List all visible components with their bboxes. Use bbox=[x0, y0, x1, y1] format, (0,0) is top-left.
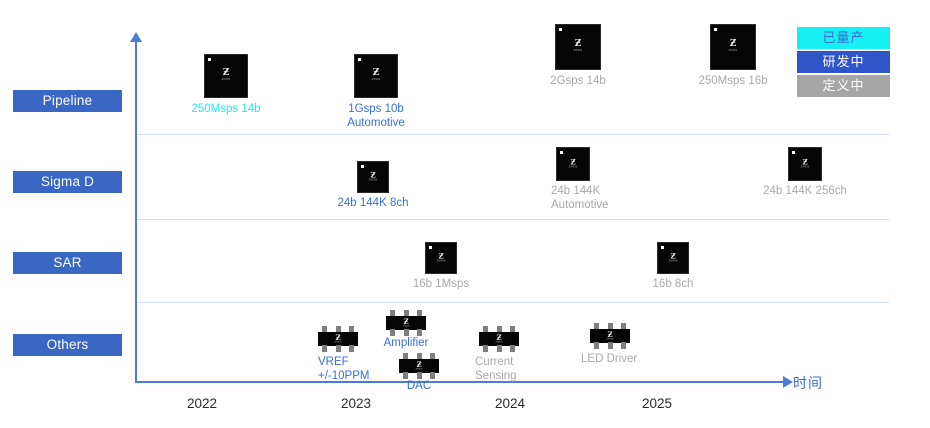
product-caption: 250Msps 16b bbox=[698, 75, 767, 89]
row-label-sigma-d[interactable]: Sigma D bbox=[13, 171, 122, 193]
product-caption: LED Driver bbox=[581, 353, 637, 367]
product-node-amplifier[interactable]: Ƶ ZHIXIN Amplifier bbox=[386, 309, 426, 337]
product-caption: DAC bbox=[407, 380, 431, 394]
product-caption: VREF +/-10PPM bbox=[318, 356, 369, 383]
vendor-logo-icon: Ƶ ZHIXIN bbox=[399, 361, 439, 371]
package-pin-icon bbox=[608, 342, 613, 349]
package-pin1-dot-icon bbox=[661, 246, 664, 249]
product-caption: 2Gsps 14b bbox=[550, 75, 606, 89]
product-caption: 1Gsps 10b Automotive bbox=[347, 103, 405, 130]
package-pin-icon bbox=[510, 345, 515, 352]
product-node-24b-144k-8ch[interactable]: Ƶ ZHIXIN 24b 144K 8ch bbox=[358, 162, 388, 192]
package-pin1-dot-icon bbox=[429, 246, 432, 249]
year-tick-2023: 2023 bbox=[326, 396, 386, 411]
package-pin-icon bbox=[594, 342, 599, 349]
product-node-1gsps-10b-automotive[interactable]: Ƶ ZHIXIN 1Gsps 10b Automotive bbox=[355, 55, 397, 97]
product-caption: 16b 8ch bbox=[653, 278, 694, 292]
package-pin1-dot-icon bbox=[714, 28, 717, 31]
x-axis-line bbox=[135, 381, 785, 383]
product-node-24b-144k-automotive[interactable]: Ƶ ZHIXIN 24b 144K Automotive bbox=[551, 148, 589, 180]
vendor-logo-icon: Ƶ ZHIXIN bbox=[711, 40, 755, 53]
vendor-logo-icon: Ƶ ZHIXIN bbox=[557, 158, 589, 169]
product-caption: 24b 144K Automotive bbox=[551, 185, 609, 212]
vendor-logo-icon: Ƶ ZHIXIN bbox=[479, 334, 519, 344]
product-node-250msps-16b[interactable]: Ƶ ZHIXIN 250Msps 16b bbox=[711, 25, 755, 69]
status-legend: 已量产 研发中 定义中 bbox=[797, 27, 890, 99]
vendor-logo-icon: Ƶ ZHIXIN bbox=[590, 331, 630, 341]
vendor-logo-icon: Ƶ ZHIXIN bbox=[205, 69, 247, 82]
chip-package-sot23: Ƶ ZHIXIN bbox=[399, 352, 439, 380]
chip-package-bga: Ƶ ZHIXIN bbox=[205, 55, 247, 97]
package-pin-icon bbox=[621, 342, 626, 349]
chip-package-bga: Ƶ ZHIXIN bbox=[557, 148, 589, 180]
product-caption: Current Sensing bbox=[475, 356, 517, 383]
product-caption: 16b 1Msps bbox=[413, 278, 469, 292]
package-pin1-dot-icon bbox=[560, 151, 563, 154]
package-pin-icon bbox=[403, 372, 408, 379]
package-pin-icon bbox=[417, 372, 422, 379]
chip-package-bga: Ƶ ZHIXIN bbox=[358, 162, 388, 192]
x-axis-arrow-icon bbox=[783, 376, 793, 388]
chip-package-bga: Ƶ ZHIXIN bbox=[789, 148, 821, 180]
package-pin1-dot-icon bbox=[792, 151, 795, 154]
vendor-logo-icon: Ƶ ZHIXIN bbox=[318, 334, 358, 344]
chip-package-sot23: Ƶ ZHIXIN bbox=[479, 325, 519, 353]
product-node-16b-1msps[interactable]: Ƶ ZHIXIN 16b 1Msps bbox=[426, 243, 456, 273]
product-node-16b-8ch[interactable]: Ƶ ZHIXIN 16b 8ch bbox=[658, 243, 688, 273]
chip-package-bga: Ƶ ZHIXIN bbox=[355, 55, 397, 97]
year-tick-2025: 2025 bbox=[627, 396, 687, 411]
y-axis-line bbox=[135, 40, 137, 383]
year-tick-2024: 2024 bbox=[480, 396, 540, 411]
product-caption: 24b 144K 8ch bbox=[338, 197, 409, 211]
product-node-24b-144k-256ch[interactable]: Ƶ ZHIXIN 24b 144K 256ch bbox=[789, 148, 821, 180]
row-label-pipeline[interactable]: Pipeline bbox=[13, 90, 122, 112]
gridline-pipeline-sigmad bbox=[137, 134, 889, 135]
package-pin-icon bbox=[497, 345, 502, 352]
package-pin-icon bbox=[483, 345, 488, 352]
chip-package-sot23: Ƶ ZHIXIN bbox=[386, 309, 426, 337]
vendor-logo-icon: Ƶ ZHIXIN bbox=[556, 40, 600, 53]
legend-item-production[interactable]: 已量产 bbox=[797, 27, 890, 49]
row-label-sar[interactable]: SAR bbox=[13, 252, 122, 274]
vendor-logo-icon: Ƶ ZHIXIN bbox=[426, 252, 456, 263]
product-caption: 250Msps 14b bbox=[191, 103, 260, 117]
product-node-dac[interactable]: Ƶ ZHIXIN DAC bbox=[399, 352, 439, 380]
chip-package-bga: Ƶ ZHIXIN bbox=[658, 243, 688, 273]
product-node-2gsps-14b[interactable]: Ƶ ZHIXIN 2Gsps 14b bbox=[556, 25, 600, 69]
product-caption: 24b 144K 256ch bbox=[763, 185, 847, 199]
package-pin1-dot-icon bbox=[559, 28, 562, 31]
year-tick-2022: 2022 bbox=[172, 396, 232, 411]
package-pin1-dot-icon bbox=[358, 58, 361, 61]
gridline-sigmad-sar bbox=[137, 219, 889, 220]
legend-item-development[interactable]: 研发中 bbox=[797, 51, 890, 73]
chip-package-bga: Ƶ ZHIXIN bbox=[426, 243, 456, 273]
chip-package-sot23: Ƶ ZHIXIN bbox=[318, 325, 358, 353]
chip-package-bga: Ƶ ZHIXIN bbox=[711, 25, 755, 69]
gridline-sar-others bbox=[137, 302, 889, 303]
vendor-logo-icon: Ƶ ZHIXIN bbox=[789, 158, 821, 169]
product-node-250msps-14b[interactable]: Ƶ ZHIXIN 250Msps 14b bbox=[205, 55, 247, 97]
row-label-others[interactable]: Others bbox=[13, 334, 122, 356]
vendor-logo-icon: Ƶ ZHIXIN bbox=[358, 171, 388, 182]
chip-package-sot23: Ƶ ZHIXIN bbox=[590, 322, 630, 350]
package-pin-icon bbox=[417, 329, 422, 336]
package-pin1-dot-icon bbox=[208, 58, 211, 61]
product-node-current-sensing[interactable]: Ƶ ZHIXIN Current Sensing bbox=[475, 325, 519, 353]
package-pin-icon bbox=[349, 345, 354, 352]
package-pin1-dot-icon bbox=[361, 165, 364, 168]
roadmap-canvas: 时间 Pipeline Sigma D SAR Others 已量产 研发中 定… bbox=[0, 0, 930, 428]
product-node-led-driver[interactable]: Ƶ ZHIXIN LED Driver bbox=[581, 322, 630, 350]
package-pin-icon bbox=[322, 345, 327, 352]
chip-package-bga: Ƶ ZHIXIN bbox=[556, 25, 600, 69]
package-pin-icon bbox=[390, 329, 395, 336]
package-pin-icon bbox=[336, 345, 341, 352]
legend-item-definition[interactable]: 定义中 bbox=[797, 75, 890, 97]
product-node-vref[interactable]: Ƶ ZHIXIN VREF +/-10PPM bbox=[318, 325, 358, 353]
package-pin-icon bbox=[404, 329, 409, 336]
product-caption: Amplifier bbox=[384, 337, 429, 351]
package-pin-icon bbox=[430, 372, 435, 379]
x-axis-label: 时间 bbox=[793, 373, 823, 393]
vendor-logo-icon: Ƶ ZHIXIN bbox=[355, 69, 397, 82]
vendor-logo-icon: Ƶ ZHIXIN bbox=[658, 252, 688, 263]
vendor-logo-icon: Ƶ ZHIXIN bbox=[386, 318, 426, 328]
